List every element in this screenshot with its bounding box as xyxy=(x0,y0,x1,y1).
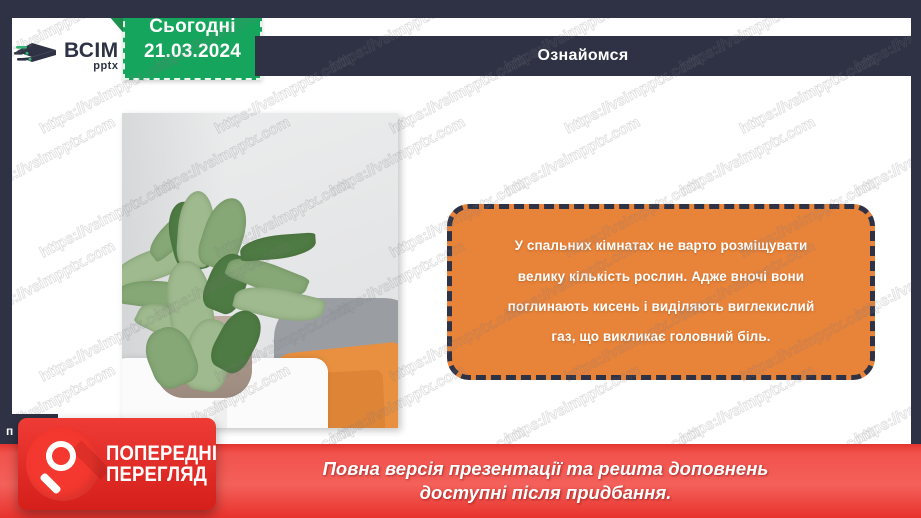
brand-logo: ВСІМ pptx xyxy=(14,32,134,80)
slide-frame-right xyxy=(911,0,921,518)
callout-line: У спальних кімнатах не варто розміщувати xyxy=(508,231,815,261)
magnifier-icon xyxy=(26,427,100,501)
presentation-slide: ВСІМ pptx Сьогодні 21.03.2024 Ознайомся xyxy=(0,0,921,518)
slide-photo xyxy=(122,113,398,428)
callout-line: велику кількість рослин. Адже вночі вони xyxy=(508,262,815,292)
today-date: 21.03.2024 xyxy=(144,41,241,63)
preview-badge-line-1: ПОПЕРЕДНІЙ xyxy=(106,443,216,464)
logo-subtitle: pptx xyxy=(64,61,118,71)
slide-title-bar: Ознайомся xyxy=(255,36,911,76)
logo-name: ВСІМ xyxy=(64,41,118,61)
callout-line: поглинають кисень і виділяють виглекисли… xyxy=(508,292,815,322)
preview-badge-label: ПОПЕРЕДНІЙ ПЕРЕГЛЯД xyxy=(106,443,216,485)
purchase-notice-text: Повна версія презентації та решта доповн… xyxy=(153,457,769,505)
watermark-text: https://vsimpptx.com xyxy=(12,238,118,324)
watermark-text: https://vsimpptx.com xyxy=(852,114,911,200)
watermark-text: https://vsimpptx.com xyxy=(502,114,643,200)
today-date-badge: Сьогодні 21.03.2024 xyxy=(123,18,262,80)
today-label: Сьогодні xyxy=(149,18,235,38)
watermark-text: https://vsimpptx.com xyxy=(12,114,118,200)
footer-stub-text: п xyxy=(6,424,13,438)
info-callout-box: У спальних кімнатах не варто розміщувати… xyxy=(447,204,875,380)
page-title: Ознайомся xyxy=(538,47,629,65)
preview-badge-line-2: ПЕРЕГЛЯД xyxy=(106,464,216,485)
callout-line: газ, що викликає головний біль. xyxy=(508,322,815,352)
graduation-cap-icon xyxy=(14,37,60,75)
banner-line-1: Повна версія презентації та решта доповн… xyxy=(323,457,769,481)
slide-frame-top xyxy=(0,0,921,18)
preview-badge[interactable]: ПОПЕРЕДНІЙ ПЕРЕГЛЯД xyxy=(18,418,216,510)
watermark-text: https://vsimpptx.com xyxy=(677,114,818,200)
banner-line-2: доступні після придбання. xyxy=(323,481,769,505)
photo-stool-leg xyxy=(214,400,227,428)
callout-text: У спальних кімнатах не варто розміщувати… xyxy=(508,231,815,353)
